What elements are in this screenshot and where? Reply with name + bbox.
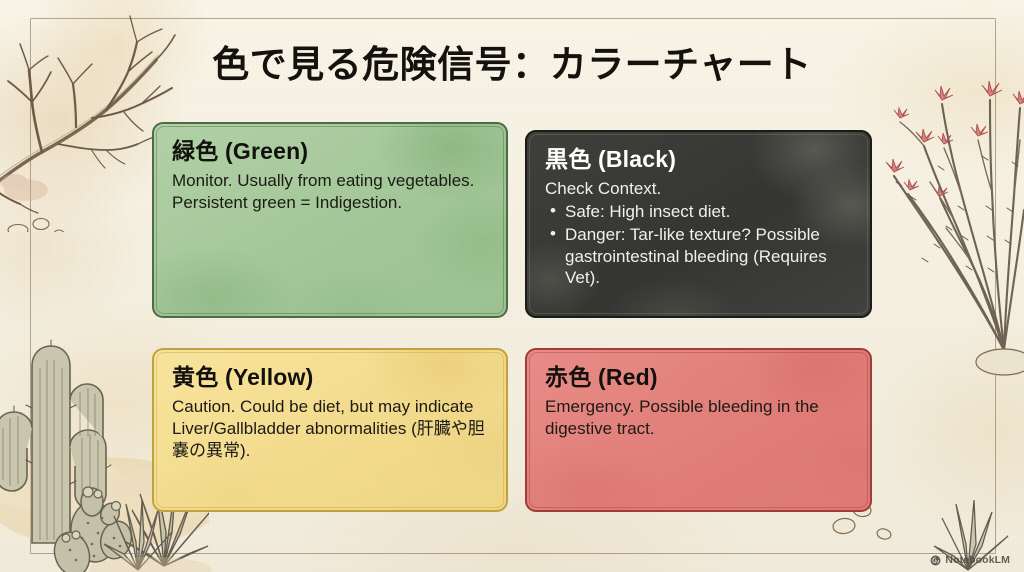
page-title: 色で見る危険信号：カラーチャート [0,45,1024,86]
notebooklm-watermark-label: NotebookLM [945,554,1010,566]
color-chart-card-grid: 緑色 (Green) Monitor. Usually from eating … [152,122,872,514]
list-item: Danger: Tar-like texture? Possible gastr… [545,224,852,289]
card-green-body: Monitor. Usually from eating vegetables.… [172,170,488,214]
card-red-body: Emergency. Possible bleeding in the dige… [545,396,852,440]
notebooklm-watermark: NotebookLM [930,554,1010,566]
card-black[interactable]: 黒色 (Black) Check Context. Safe: High ins… [525,130,872,318]
card-yellow[interactable]: 黄色 (Yellow) Caution. Could be diet, but … [152,348,508,512]
notebooklm-spiral-icon [930,555,941,566]
card-red[interactable]: 赤色 (Red) Emergency. Possible bleeding in… [525,348,872,512]
card-yellow-body: Caution. Could be diet, but may indicate… [172,396,488,461]
card-black-body-intro: Check Context. [545,178,852,200]
card-green[interactable]: 緑色 (Green) Monitor. Usually from eating … [152,122,508,318]
card-green-heading: 緑色 (Green) [172,138,488,164]
card-black-bullet-list: Safe: High insect diet. Danger: Tar-like… [545,201,852,289]
list-item: Safe: High insect diet. [545,201,852,223]
slide-canvas: 色で見る危険信号：カラーチャート 緑色 (Green) Monitor. Usu… [0,0,1024,572]
card-yellow-heading: 黄色 (Yellow) [172,364,488,390]
card-black-heading: 黒色 (Black) [545,146,852,172]
card-red-heading: 赤色 (Red) [545,364,852,390]
card-black-body: Check Context. Safe: High insect diet. D… [545,178,852,289]
